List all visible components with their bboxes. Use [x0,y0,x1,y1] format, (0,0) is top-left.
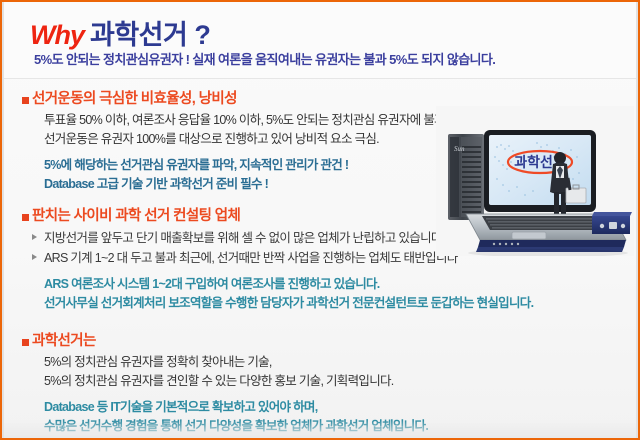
laptop-server-photo: Sun [436,106,634,256]
section-heading: 과학선거는 [32,333,96,349]
section-body-line: 5%의 정치관심 유권자를 정확히 찾아내는 기술, [4,353,636,372]
section-arrow-text: ARS 기계 1~2 대 두고 불과 최근에, 선거때만 반짝 사업을 진행하는… [44,251,458,265]
page-title: Why과학선거 ? [30,13,210,52]
server-rack-icon: Sun [448,134,484,220]
triangle-bullet-icon [32,254,37,260]
section-body-line: 5%의 정치관심 유권자를 견인할 수 있는 다양한 홍보 기술, 기획력입니다… [4,372,636,391]
title-korean: 과학선거 ? [90,20,210,50]
svg-text:Sun: Sun [454,145,465,153]
slide-panel: Why과학선거 ? 5%도 안되는 정치관심유권자 ! 실재 여론을 움직여내는… [4,2,636,438]
square-bullet-icon [22,97,29,104]
section-heading: 판치는 사이비 과학 선거 컨설팅 업체 [32,208,240,224]
square-bullet-icon [22,339,29,346]
page-subtitle: 5%도 안되는 정치관심유권자 ! 실재 여론을 움직여내는 유권자는 불과 5… [34,49,495,68]
triangle-bullet-icon [32,234,37,240]
section-highlight-line: ARS 여론조사 시스템 1~2대 구입하여 여론조사를 진행하고 있습니다. [4,275,636,294]
title-why: Why [30,20,84,50]
section-heading-row: 과학선거는 [4,332,636,353]
slide-root: Why과학선거 ? 5%도 안되는 정치관심유권자 ! 실재 여론을 움직여내는… [0,0,640,440]
laptop-illustration: Sun [436,106,634,256]
bottom-fade [4,420,636,438]
section-heading: 선거운동의 극심한 비효율성, 낭비성 [32,91,237,107]
section-highlight-line: Database 등 IT기술을 기본적으로 확보하고 있어야 하며, [4,398,636,417]
section-arrow-text: 지방선거를 앞두고 단기 매출확보를 위해 셀 수 없이 많은 업체가 난립하고… [44,231,444,245]
network-device-icon [592,212,632,234]
slide-header: Why과학선거 ? 5%도 안되는 정치관심유권자 ! 실재 여론을 움직여내는… [4,2,636,79]
square-bullet-icon [22,214,29,221]
section-highlight-block: ARS 여론조사 시스템 1~2대 구입하여 여론조사를 진행하고 있습니다. … [4,275,636,313]
section-highlight-line: 선거사무실 선거회계처리 보조역할을 수행한 담당자가 과학선거 전문컨설턴트로… [4,294,636,313]
